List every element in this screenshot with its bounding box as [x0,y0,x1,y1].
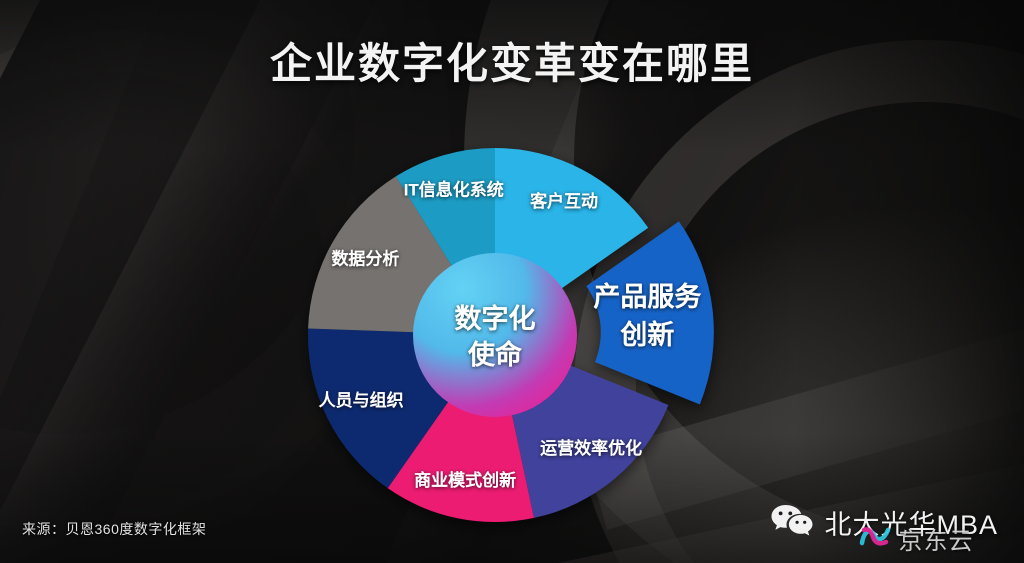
slide-title: 企业数字化变革变在哪里 [0,30,1024,91]
wheel-label-operational-efficiency: 运营效率优化 [540,438,642,458]
wheel-label-product-service-innovation-line1: 产品服务 [593,282,701,312]
source-note: 来源：贝恩360度数字化框架 [22,519,206,539]
jdcloud-watermark: 京东云 [858,521,973,556]
wheel-hub [413,253,577,417]
hub-label-line1: 数字化 [455,303,536,334]
wheel-label-people-and-organization: 人员与组织 [319,390,404,410]
hub-label-line2: 使命 [467,339,523,370]
wheel-label-business-model-innovation: 商业模式创新 [414,470,516,490]
brand-block: 北大光华MBA 京东云 [770,499,998,545]
wechat-icon [770,503,814,542]
wheel-label-customer-interaction: 客户互动 [529,191,598,211]
slide-canvas: 企业数字化变革变在哪里 [0,0,1024,563]
wheel-label-product-service-innovation-line2: 创新 [619,319,674,350]
wheel-label-data-analytics: 数据分析 [331,249,399,269]
jdcloud-watermark-text: 京东云 [898,521,973,556]
jdcloud-icon [858,522,894,555]
wheel-label-it-systems: IT信息化系统 [404,180,504,200]
brand-text-stack: 北大光华MBA 京东云 [824,499,998,545]
